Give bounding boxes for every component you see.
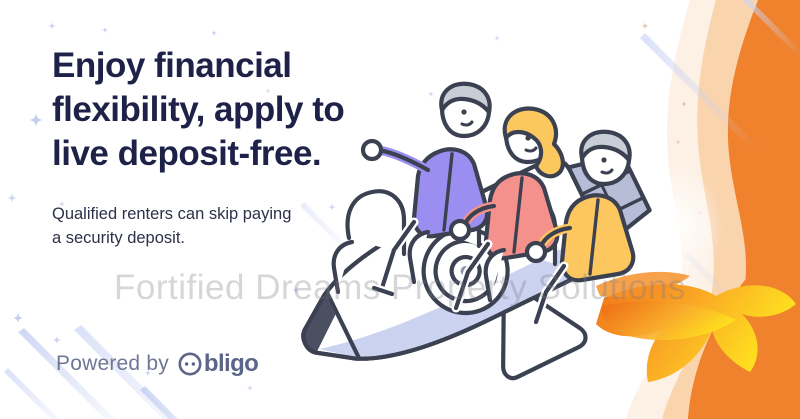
rider-left-eye [461,109,466,114]
rider-right-eye [601,157,606,162]
rider-middle-hand [451,221,469,239]
page-title: Enjoy financial flexibility, apply to li… [52,44,382,176]
subtitle: Qualified renters can skip paying a secu… [52,202,382,250]
powered-by-label: Powered by [56,352,169,376]
obligo-circle-eyes-icon [178,352,202,376]
powered-by-block: Powered by bligo [56,350,258,378]
rider-right-hand [527,243,545,261]
marketing-banner: Fortified Dreams Property Solutions Enjo… [0,0,800,419]
headline-block: Enjoy financial flexibility, apply to li… [52,44,382,250]
obligo-wordmark: bligo [204,350,258,378]
rider-middle-eye [525,135,530,140]
obligo-logo[interactable]: bligo [178,350,258,378]
